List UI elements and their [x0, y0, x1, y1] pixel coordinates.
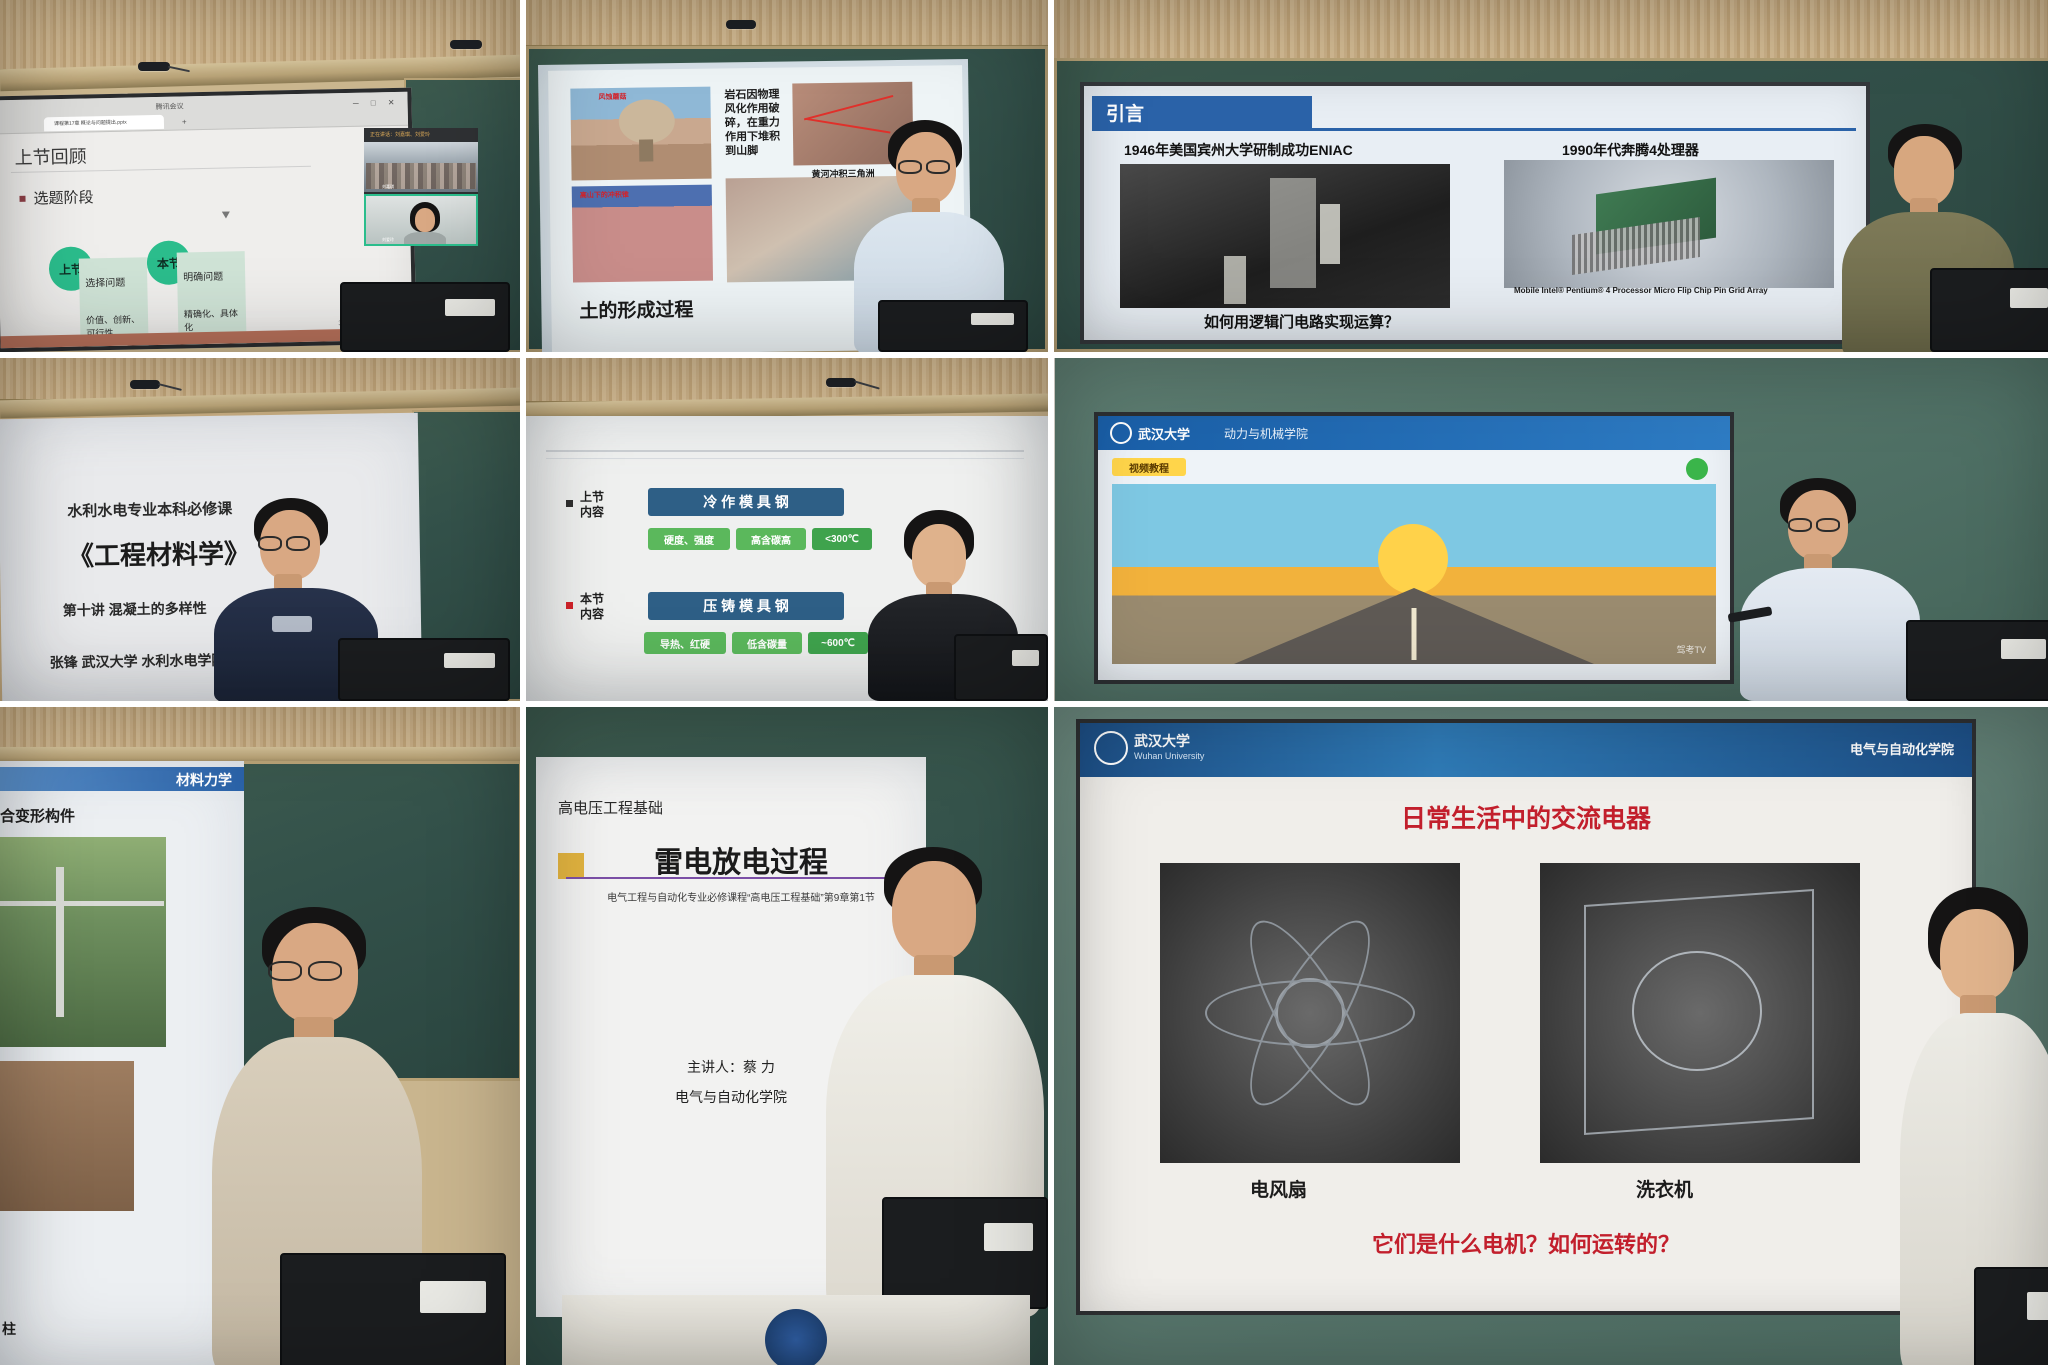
university-logo: [272, 616, 312, 632]
slide-section-title: 引言: [1106, 99, 1144, 126]
slide-title: 土的形成过程: [579, 295, 693, 324]
desk-monitor: [878, 300, 1028, 352]
lecturer-shirt: [1740, 568, 1920, 701]
slide-line1: 水利水电专业本科必修课: [67, 498, 232, 522]
eniac-panel-glow: [1270, 178, 1316, 288]
lecturer-glasses: [898, 160, 922, 174]
ceiling-microphone: [130, 380, 160, 389]
video-tile-classroom-name: 刘嘉琪: [382, 184, 394, 190]
photo-eniac: [1120, 164, 1450, 308]
photo-brick-column: [0, 1061, 134, 1211]
chip-temp-below-300: <300℃: [812, 528, 872, 550]
window-controls[interactable]: ─ □ ✕: [353, 98, 400, 108]
photo-pentium4-chip: [1504, 160, 1834, 288]
slide-header-left-sub: Wuhan University: [1134, 751, 1204, 761]
washer-drum: [1632, 951, 1762, 1071]
slide-header-bar: [1080, 723, 1972, 777]
projection-screen: 武汉大学 动力与机械学院 视频教程 驾考TV: [1094, 412, 1734, 684]
slide-caption-left: 1946年美国宾州大学研制成功ENIAC: [1124, 140, 1353, 160]
desk-monitor: [340, 282, 510, 352]
label-previous: 上节内容: [580, 490, 604, 520]
video-call-panel[interactable]: 正在讲话：刘嘉琪、刘爱玲 刘嘉琪 刘爱玲: [364, 128, 478, 246]
video-watermark: 驾考TV: [1676, 643, 1706, 656]
projection-screen: 武汉大学 Wuhan University 电气与自动化学院 日常生活中的交流电…: [1076, 719, 1976, 1315]
podium-emblem: [765, 1309, 827, 1365]
slide-header-left: 武汉大学: [1138, 424, 1190, 443]
lecturer-head: [912, 524, 966, 588]
eniac-operator-2: [1320, 204, 1340, 264]
monitor-sticker: [2001, 639, 2046, 659]
slide-line4: 张锋 武汉大学 水利水电学院: [49, 650, 225, 673]
photo-collage-grid: 腾讯会议 课程第17章 概论与问题提出.pptx + ─ □ ✕ 上节回顾 选题…: [0, 0, 2048, 1365]
photo-alluvial-cone: 高山下的冲积锥: [572, 185, 713, 283]
new-tab-button[interactable]: +: [182, 117, 187, 126]
slide-title: 上节回顾: [14, 142, 87, 170]
slide-caption-fragment: 柱: [2, 1319, 16, 1339]
panel-top-right: 引言 1946年美国宾州大学研制成功ENIAC 1990年代奔腾4处理器 Mob…: [1054, 0, 2048, 352]
caption-electric-fan: 电风扇: [1250, 1175, 1307, 1202]
eniac-operator-1: [1224, 256, 1246, 304]
road-centerline: [1412, 608, 1417, 660]
railing-rail: [0, 901, 164, 906]
caption-washing-machine: 洗衣机: [1636, 1175, 1693, 1202]
label-marker-current: [566, 602, 573, 609]
slide-eyebrow: 高电压工程基础: [558, 797, 663, 818]
lecturer: [1734, 478, 1934, 701]
photo-column-structure: [0, 837, 166, 1047]
lecturer-glasses-right: [926, 160, 950, 174]
monitor-sticker: [420, 1281, 487, 1312]
university-crest-icon: [1094, 731, 1128, 765]
browser-window-title: 腾讯会议: [156, 101, 184, 112]
desk-monitor: [1930, 268, 2048, 352]
label-marker-previous: [566, 500, 573, 507]
monitor-sticker: [445, 299, 495, 316]
desk-monitor: [1974, 1267, 2048, 1365]
monitor-sticker: [1012, 650, 1039, 666]
projection-screen: 引言 1946年美国宾州大学研制成功ENIAC 1990年代奔腾4处理器 Mob…: [1080, 82, 1870, 344]
slide-header-right: 电气与自动化学院: [1850, 739, 1954, 758]
ceiling-wood-panel: [1054, 0, 2048, 64]
slide-header-right: 动力与机械学院: [1224, 425, 1308, 442]
lecturer-head: [892, 861, 976, 961]
panel-middle-left: 水利水电专业本科必修课 《工程材料学》 第十讲 混凝土的多样性 张锋 武汉大学 …: [0, 358, 520, 701]
slide-bullet-text: 选题阶段: [33, 186, 93, 208]
ceiling-wood-panel: [526, 0, 1048, 48]
slide-box-right-body: 精确化、具体化: [184, 307, 245, 334]
podium: [562, 1295, 1030, 1365]
lecturer-glasses-right: [1816, 518, 1840, 532]
video-badge-label: 视频教程: [1129, 460, 1169, 475]
monitor-sticker: [971, 313, 1015, 325]
slide-header-left: 武汉大学: [1134, 731, 1190, 751]
photo-wind-eroded-mushroom-rock: 风蚀蘑菇: [570, 87, 711, 181]
slide-title: 日常生活中的交流电器: [1080, 799, 1972, 835]
lecturer-glasses-left: [268, 961, 302, 981]
slide-question: 它们是什么电机？如何运转的？: [1080, 1227, 1972, 1259]
slide-top-rule-2: [546, 458, 1024, 459]
photo-caption-wind-erosion: 风蚀蘑菇: [598, 92, 626, 102]
video-play-button[interactable]: [1686, 458, 1708, 480]
slide-caption-right: 1990年代奔腾4处理器: [1562, 140, 1699, 160]
video-frame[interactable]: 驾考TV: [1112, 484, 1716, 664]
mushroom-rock-shape: [618, 99, 675, 144]
panel-bottom-left: 材料力学 合变形构件 柱 2: [0, 707, 520, 1365]
monitor-sticker: [2010, 288, 2048, 309]
panel-bottom-center: 高电压工程基础 雷电放电过程 电气工程与自动化专业必修课程“高电压工程基础”第9…: [526, 707, 1048, 1365]
slide-subtitle-fragment: 合变形构件: [0, 805, 75, 826]
slide-title: 雷电放电过程: [654, 839, 828, 881]
panel-top-left: 腾讯会议 课程第17章 概论与问题提出.pptx + ─ □ ✕ 上节回顾 选题…: [0, 0, 520, 352]
slide-bullet-marker: [19, 196, 25, 202]
cursor-arrow: [222, 211, 230, 218]
mushroom-rock-stem: [639, 139, 653, 161]
slide-annotation-text: 岩石因物理风化作用破碎，在重力作用下堆积到山脚: [724, 88, 787, 159]
desk-monitor: [338, 638, 510, 701]
monitor-sticker: [984, 1223, 1033, 1251]
chip-thermal-red-hardness: 导热、红硬: [644, 632, 726, 654]
video-tile-speaker-name: 刘爱玲: [382, 237, 394, 243]
desk-monitor: [280, 1253, 506, 1365]
desk-monitor: [954, 634, 1048, 701]
desk-monitor: [882, 1197, 1048, 1309]
panel-bottom-right: 武汉大学 Wuhan University 电气与自动化学院 日常生活中的交流电…: [1054, 707, 2048, 1365]
slide-header-title: 材料力学: [176, 770, 232, 790]
group-header-die-casting-die-steel: 压 铸 模 具 钢: [648, 592, 844, 620]
slide-header-rule: [1092, 128, 1856, 131]
presenter-head: [1894, 136, 1954, 206]
slide-line3: 第十讲 混凝土的多样性: [63, 598, 207, 620]
monitor-sticker: [2027, 1292, 2048, 1320]
slide-top-rule: [546, 450, 1024, 452]
lecturer-head: [1940, 909, 2014, 1001]
ceiling-microphone: [138, 62, 170, 71]
video-call-status: 正在讲话：刘嘉琪、刘爱玲: [370, 131, 430, 138]
panel-middle-right: 武汉大学 动力与机械学院 视频教程 驾考TV: [1054, 358, 2048, 701]
monitor-sticker: [444, 653, 494, 668]
panel-middle-center: 上节内容 冷 作 模 具 钢 硬度、强度 高含碳高 <300℃ 本节内容 压 铸…: [526, 358, 1048, 701]
slide-box-right-heading: 明确问题: [183, 268, 223, 284]
chip-high-carbon: 高含碳高: [736, 528, 806, 550]
railing-post: [56, 867, 64, 1017]
slide-header-bar: [1098, 416, 1730, 450]
chip-low-carbon: 低含碳量: [732, 632, 802, 654]
photo-caption-alluvial-cone: 高山下的冲积锥: [580, 190, 629, 201]
lecturer-glasses-right: [286, 536, 310, 551]
slide-section-header: 引言: [1092, 96, 1312, 128]
speaker-head: [415, 208, 435, 232]
ceiling-microphone-2: [450, 40, 482, 49]
photo-electric-fan: [1160, 863, 1460, 1163]
university-crest-icon: [1110, 422, 1132, 444]
photo-washing-machine: [1540, 863, 1860, 1163]
ceiling-microphone: [826, 378, 856, 387]
ceiling-microphone: [726, 20, 756, 29]
label-current: 本节内容: [580, 592, 604, 622]
group-header-cold-work-die-steel: 冷 作 模 具 钢: [648, 488, 844, 516]
red-annotation-arrows: [804, 95, 893, 120]
slide-question: 如何用逻辑门电路实现运算？: [1204, 311, 1399, 332]
speaker-torso: [404, 232, 446, 246]
lecturer-glasses-left: [1788, 518, 1812, 532]
chip-caption: Mobile Intel® Pentium® 4 Processor Micro…: [1514, 286, 1814, 296]
chip-temp-about-600: ~600℃: [808, 632, 868, 654]
video-badge[interactable]: 视频教程: [1112, 458, 1186, 476]
slide-box-left-heading: 选择问题: [85, 274, 125, 290]
panel-top-center: 风蚀蘑菇 高山下的冲积锥 岩石因物理风化作用破碎，在重力作用下堆积到山脚 黄河冲…: [526, 0, 1048, 352]
slide-accent-square: [558, 853, 584, 879]
chip-pin-grid: [1572, 217, 1700, 275]
lecturer-glasses-right: [308, 961, 342, 981]
sun-shape: [1378, 524, 1448, 594]
chip-hardness-strength: 硬度、强度: [648, 528, 730, 550]
lecturer-glasses-left: [258, 536, 282, 551]
desk-monitor: [1906, 620, 2048, 701]
